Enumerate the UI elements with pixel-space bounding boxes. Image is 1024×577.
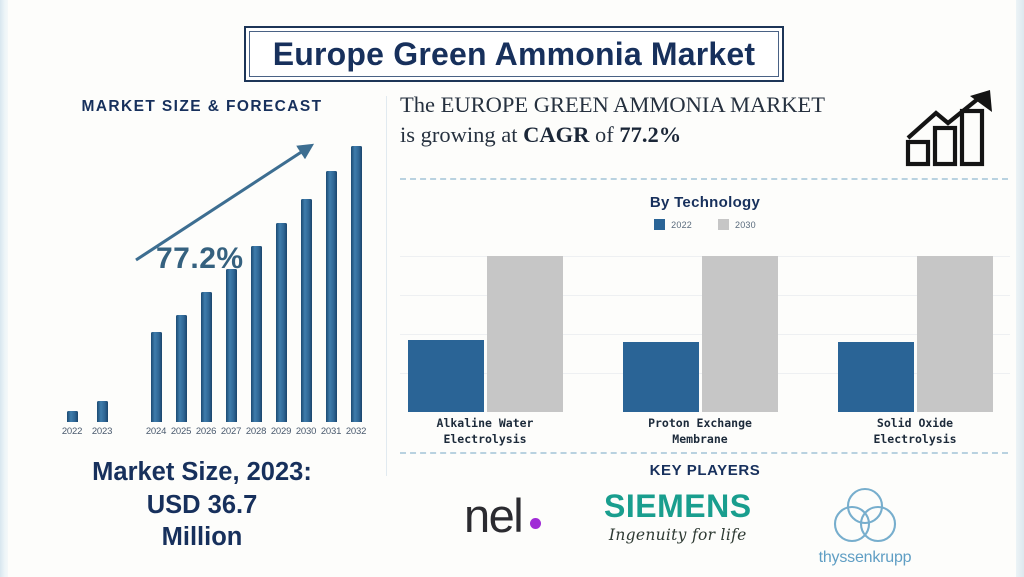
technology-bar — [487, 256, 563, 412]
growth-year-label: 2031 — [321, 426, 341, 437]
growth-bar — [251, 246, 262, 422]
headline-market-name: EUROPE GREEN AMMONIA MARKET — [441, 92, 825, 117]
logo-siemens: SIEMENS Ingenuity for life — [604, 490, 752, 544]
growth-chart-icon — [902, 86, 1000, 168]
growth-year-label: 2025 — [171, 426, 191, 437]
market-detail-panel: The EUROPE GREEN AMMONIA MARKET is growi… — [394, 86, 1016, 577]
logo-thyssenkrupp: thyssenkrupp — [802, 484, 928, 567]
legend-swatch-icon — [718, 219, 729, 230]
growth-year-label: 2026 — [196, 426, 216, 437]
market-size-line-2: USD 36.7 — [16, 489, 388, 522]
page-title-box: Europe Green Ammonia Market — [244, 26, 784, 82]
technology-bar — [838, 342, 914, 412]
logo-nel-dot-icon — [530, 518, 541, 529]
headline-of-word: of — [589, 122, 619, 147]
growth-chart-year-axis: 2022202320242025202620272028202920302031… — [16, 426, 388, 446]
growth-bar — [151, 332, 162, 422]
legend-label: 2022 — [671, 220, 692, 230]
growth-year-label: 2030 — [296, 426, 316, 437]
infographic-inner: Europe Green Ammonia Market MARKET SIZE … — [8, 0, 1016, 577]
market-growth-bar-chart: 77.2% — [16, 132, 388, 422]
technology-category-label: Solid OxideElectrolysis — [873, 416, 956, 447]
technology-category-label: Proton ExchangeMembrane — [648, 416, 752, 447]
market-size-panel: MARKET SIZE & FORECAST 77.2% 20222023202… — [16, 90, 388, 577]
headline-cagr-value: 77.2% — [619, 122, 681, 147]
growth-bar — [351, 146, 362, 422]
logo-thyssenkrupp-wordmark: thyssenkrupp — [802, 549, 928, 567]
growth-year-label: 2028 — [246, 426, 266, 437]
growth-bar — [276, 223, 287, 422]
technology-category-label: Alkaline WaterElectrolysis — [437, 416, 534, 447]
market-size-line-1: Market Size, 2023: — [16, 456, 388, 489]
growth-year-label: 2023 — [92, 426, 112, 437]
logo-siemens-tagline: Ingenuity for life — [604, 526, 752, 544]
cagr-headline: The EUROPE GREEN AMMONIA MARKET is growi… — [400, 90, 902, 149]
growth-year-label: 2032 — [346, 426, 366, 437]
growth-year-label: 2027 — [221, 426, 241, 437]
technology-legend-item: 2030 — [718, 219, 756, 230]
key-players-heading: KEY PLAYERS — [394, 462, 1016, 479]
infographic-canvas: Europe Green Ammonia Market MARKET SIZE … — [0, 0, 1024, 577]
growth-bar — [326, 171, 337, 422]
legend-swatch-icon — [654, 219, 665, 230]
growth-bar — [301, 199, 312, 422]
headline-middle: is growing at — [400, 122, 523, 147]
market-size-line-3: Million — [16, 521, 388, 554]
growth-bar — [176, 315, 187, 422]
logo-nel: nel — [464, 492, 541, 539]
growth-year-label: 2029 — [271, 426, 291, 437]
market-size-forecast-heading: MARKET SIZE & FORECAST — [16, 98, 388, 116]
thyssenkrupp-circles-icon — [802, 484, 928, 546]
technology-bar — [623, 342, 699, 412]
growth-year-label: 2024 — [146, 426, 166, 437]
logo-nel-wordmark: nel — [464, 492, 522, 539]
growth-year-label: 2022 — [62, 426, 82, 437]
by-technology-heading: By Technology — [394, 194, 1016, 211]
market-size-value-block: Market Size, 2023: USD 36.7 Million — [16, 456, 388, 554]
technology-bar-chart: Alkaline WaterElectrolysisProton Exchang… — [400, 240, 1010, 412]
key-players-logos: nel SIEMENS Ingenuity for life — [394, 484, 1016, 577]
growth-bar — [226, 269, 237, 422]
technology-legend-item: 2022 — [654, 219, 692, 230]
technology-bar — [408, 340, 484, 412]
legend-label: 2030 — [735, 220, 756, 230]
growth-bar — [201, 292, 212, 422]
headline-cagr-word: CAGR — [523, 122, 589, 147]
logo-siemens-wordmark: SIEMENS — [604, 490, 752, 524]
page-title: Europe Green Ammonia Market — [273, 36, 756, 73]
technology-legend: 20222030 — [394, 219, 1016, 230]
growth-bar — [67, 411, 78, 422]
technology-bar — [917, 256, 993, 412]
headline-prefix: The — [400, 92, 441, 117]
technology-bar — [702, 256, 778, 412]
growth-bar — [97, 401, 108, 422]
